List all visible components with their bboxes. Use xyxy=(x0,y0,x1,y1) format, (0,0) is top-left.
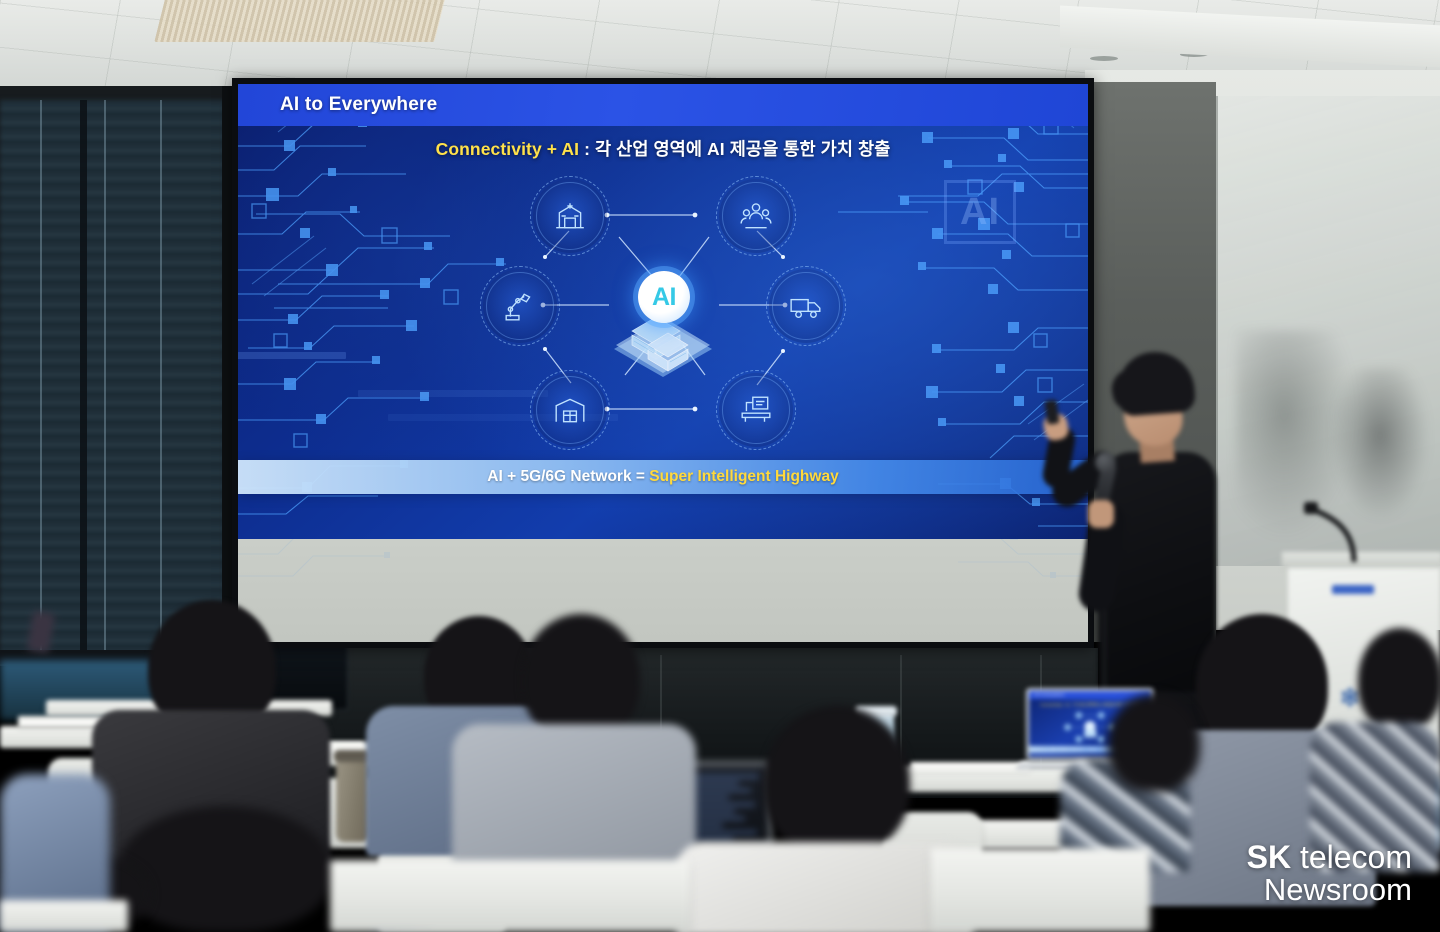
laptop-slide-header: AI to Everywhere xyxy=(1029,691,1151,699)
laptop-ui-rows xyxy=(685,775,769,845)
diagram-node-people xyxy=(719,179,793,253)
ceiling-vent xyxy=(154,0,445,42)
ai-hub-badge: AI xyxy=(638,271,690,323)
connectivity-diagram: AI xyxy=(483,179,843,479)
presentation-slide: AI AI to Everywhere Connectivity + AI : … xyxy=(238,84,1088,539)
ai-hub-label: AI xyxy=(652,283,676,312)
presenter-mic-hand xyxy=(1088,500,1114,528)
banner-text: AI + 5G/6G Network = Super Intelligent H… xyxy=(487,468,838,486)
lectern-microphone-icon xyxy=(1300,500,1360,566)
papers xyxy=(910,762,1030,772)
conference-room-scene: AI AI to Everywhere Connectivity + AI : … xyxy=(0,0,1440,932)
diagram-node-factory xyxy=(719,373,793,447)
glass-reflection xyxy=(1332,368,1428,518)
audience-head xyxy=(118,806,332,932)
slide-subtitle-rest: : 각 산업 영역에 AI 제공을 통한 가치 창출 xyxy=(579,139,890,159)
desk-front xyxy=(930,848,1150,932)
banner-text-white: AI + 5G/6G Network = xyxy=(487,468,649,485)
hospital-icon xyxy=(553,199,587,233)
window-mullion xyxy=(80,100,87,656)
diagram-node-hospital xyxy=(533,179,607,253)
decor-bar xyxy=(238,352,346,359)
watermark-brand: SK telecom xyxy=(1247,841,1412,874)
presentation-clicker[interactable] xyxy=(1044,399,1059,424)
robot-arm-icon xyxy=(503,289,537,323)
diagram-node-robot-arm xyxy=(483,269,557,343)
warehouse-icon xyxy=(553,393,587,427)
slide-title: AI to Everywhere xyxy=(280,94,437,116)
audience-head xyxy=(1358,628,1440,732)
tumbler[interactable] xyxy=(336,756,370,842)
slide-header-bar: AI to Everywhere xyxy=(238,84,1088,126)
ai-watermark-box: AI xyxy=(944,180,1016,244)
audience-head xyxy=(764,706,910,856)
audience-head xyxy=(1108,694,1200,792)
slide-subtitle: Connectivity + AI : 각 산업 영역에 AI 제공을 통한 가… xyxy=(238,136,1088,161)
projection-screen: AI AI to Everywhere Connectivity + AI : … xyxy=(238,84,1088,642)
diagram-node-truck xyxy=(769,269,843,343)
ai-watermark-label: AI xyxy=(960,191,1000,234)
ai-hub: AI xyxy=(612,271,714,381)
audience-head xyxy=(522,614,640,742)
watermark-brand-bold: SK xyxy=(1247,839,1291,875)
ceiling-light xyxy=(1090,56,1118,61)
lectern-nameplate xyxy=(1332,585,1374,594)
blind-cord[interactable] xyxy=(160,100,162,656)
blind-cord[interactable] xyxy=(104,100,106,656)
desk-front xyxy=(330,860,690,932)
people-group-icon xyxy=(739,199,773,233)
watermark-brand-light: telecom xyxy=(1291,839,1412,875)
blind-cord[interactable] xyxy=(40,100,42,656)
slide-bottom-banner: AI + 5G/6G Network = Super Intelligent H… xyxy=(238,460,1088,494)
desk-front xyxy=(0,900,128,932)
factory-machine-icon xyxy=(739,393,773,427)
microphone-head xyxy=(1095,452,1116,473)
delivery-truck-icon xyxy=(789,289,823,323)
banner-text-yellow: Super Intelligent Highway xyxy=(649,468,838,485)
watermark-newsroom: Newsroom xyxy=(1247,874,1412,906)
watermark: SK telecom Newsroom xyxy=(1247,841,1412,907)
slide-subtitle-accent: Connectivity + AI xyxy=(436,139,580,159)
window-blinds xyxy=(0,100,232,658)
diagram-node-warehouse xyxy=(533,373,607,447)
